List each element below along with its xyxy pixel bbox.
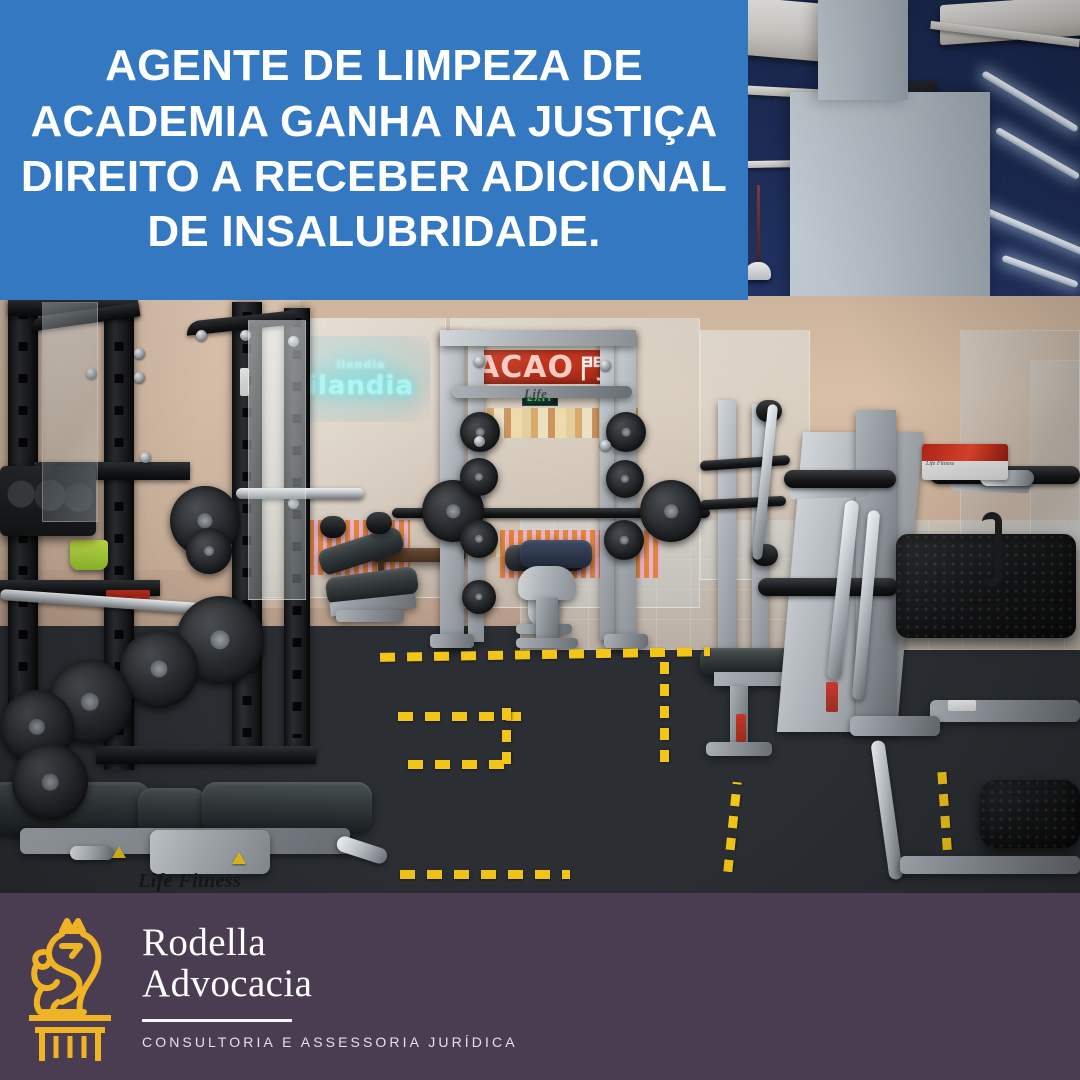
smith-plate-left-3 [460, 458, 498, 496]
smith-top-crossbar [440, 330, 636, 346]
foreground-bench-handle [335, 834, 389, 865]
chest-press-warning [826, 682, 838, 712]
bench-caution-icon-a [112, 846, 126, 858]
smith-bolt-4 [600, 440, 611, 451]
smith-plate-left-4 [460, 520, 498, 558]
bench-caution-icon-b [232, 852, 246, 864]
neon-sign-text: ilandia [308, 371, 414, 401]
mirror-strip-left [42, 302, 98, 522]
chest-press-sticker [948, 700, 976, 711]
floor-marking-col-3 [723, 782, 741, 872]
right-machine-seat [980, 780, 1080, 848]
chest-press-loop-handle [982, 512, 1002, 586]
chest-press-handle-lower [758, 578, 898, 596]
headline-banner: AGENTE DE LIMPEZA DE ACADEMIA GANHA NA J… [0, 0, 748, 300]
right-machine-rod [870, 740, 903, 881]
foreground-bench-pad-c [202, 782, 372, 832]
crowned-knight-column-logo-icon [22, 912, 118, 1062]
neon-sign-ilandia: ilandia ilandia [292, 336, 430, 422]
incline-bench-roller-b [366, 512, 392, 534]
flat-bench-foot-a [706, 742, 772, 756]
machine-info-plaque: Life Fitness [922, 444, 1008, 480]
mirror-panel-far-right [1030, 360, 1080, 550]
rack-bolt-5 [196, 330, 207, 341]
right-rack-post-a [718, 400, 736, 670]
center-machine-post [536, 598, 558, 642]
foreground-bench-brand: Life Fitness [138, 870, 241, 893]
floor-marking-row-3 [408, 760, 508, 769]
ceiling-dome-camera [745, 262, 771, 280]
left-rack-foot-beam [96, 746, 316, 764]
rack-bolt-4 [140, 452, 151, 463]
center-machine-seat [518, 566, 576, 600]
decor-glass-panel [248, 320, 306, 600]
smith-foot-right [604, 634, 648, 648]
foreground-bench-hinge [150, 830, 270, 874]
social-post-poster: ilandia ilandia ACAO 澳門皇 EXIT [0, 0, 1080, 1080]
right-machine-base [900, 856, 1080, 874]
plaque-graphic [922, 444, 1008, 461]
smith-plate-left-5 [462, 580, 496, 614]
page-title: AGENTE DE LIMPEZA DE ACADEMIA GANHA NA J… [14, 38, 734, 260]
grey-column-upper [818, 0, 908, 100]
smith-bolt-2 [474, 436, 485, 447]
brand-name-line2: Advocacia [142, 964, 518, 1005]
smith-plate-right-1 [606, 412, 646, 452]
plaque-brand-text: Life Fitness [922, 461, 1008, 467]
left-plate-f [186, 528, 232, 574]
rack-bolt-1 [134, 348, 145, 359]
smith-bolt-1 [474, 356, 485, 367]
incline-bench-roller-a [320, 516, 346, 538]
brand-footer: Rodella Advocacia CONSULTORIA E ASSESSOR… [0, 893, 1080, 1080]
floor-marking-col-4 [937, 770, 952, 850]
foreground-plate-a [12, 744, 88, 820]
smith-bolt-3 [600, 360, 611, 371]
floor-marking-col-1 [660, 652, 669, 762]
neon-sign-small-text: ilandia [337, 358, 386, 371]
brand-divider-rule [142, 1019, 292, 1022]
incline-bench-foot [336, 610, 404, 622]
brand-tagline: CONSULTORIA E ASSESSORIA JURÍDICA [142, 1034, 518, 1050]
smith-brand-text: Life [524, 386, 547, 402]
rack-bolt-2 [134, 372, 145, 383]
smith-plate-right-3 [604, 520, 644, 560]
floor-marking-row-4 [400, 870, 570, 879]
green-basket [70, 540, 108, 570]
brand-lockup: Rodella Advocacia CONSULTORIA E ASSESSOR… [142, 923, 518, 1050]
center-machine-backpad [520, 540, 592, 568]
red-sign-word: ACAO [476, 350, 574, 384]
chest-press-foot-plate [850, 716, 940, 736]
brand-name-line1: Rodella [142, 923, 518, 964]
smith-plate-right-4 [640, 480, 702, 542]
chest-press-handle-left [784, 470, 896, 488]
hanging-rod [757, 185, 760, 265]
center-machine-base [516, 638, 578, 648]
flat-bench-label [736, 714, 746, 742]
smith-foot-left [430, 634, 474, 648]
floor-marking-col-2 [502, 704, 511, 764]
foreground-bench-knob [70, 846, 114, 860]
smith-plate-right-2 [606, 460, 644, 498]
